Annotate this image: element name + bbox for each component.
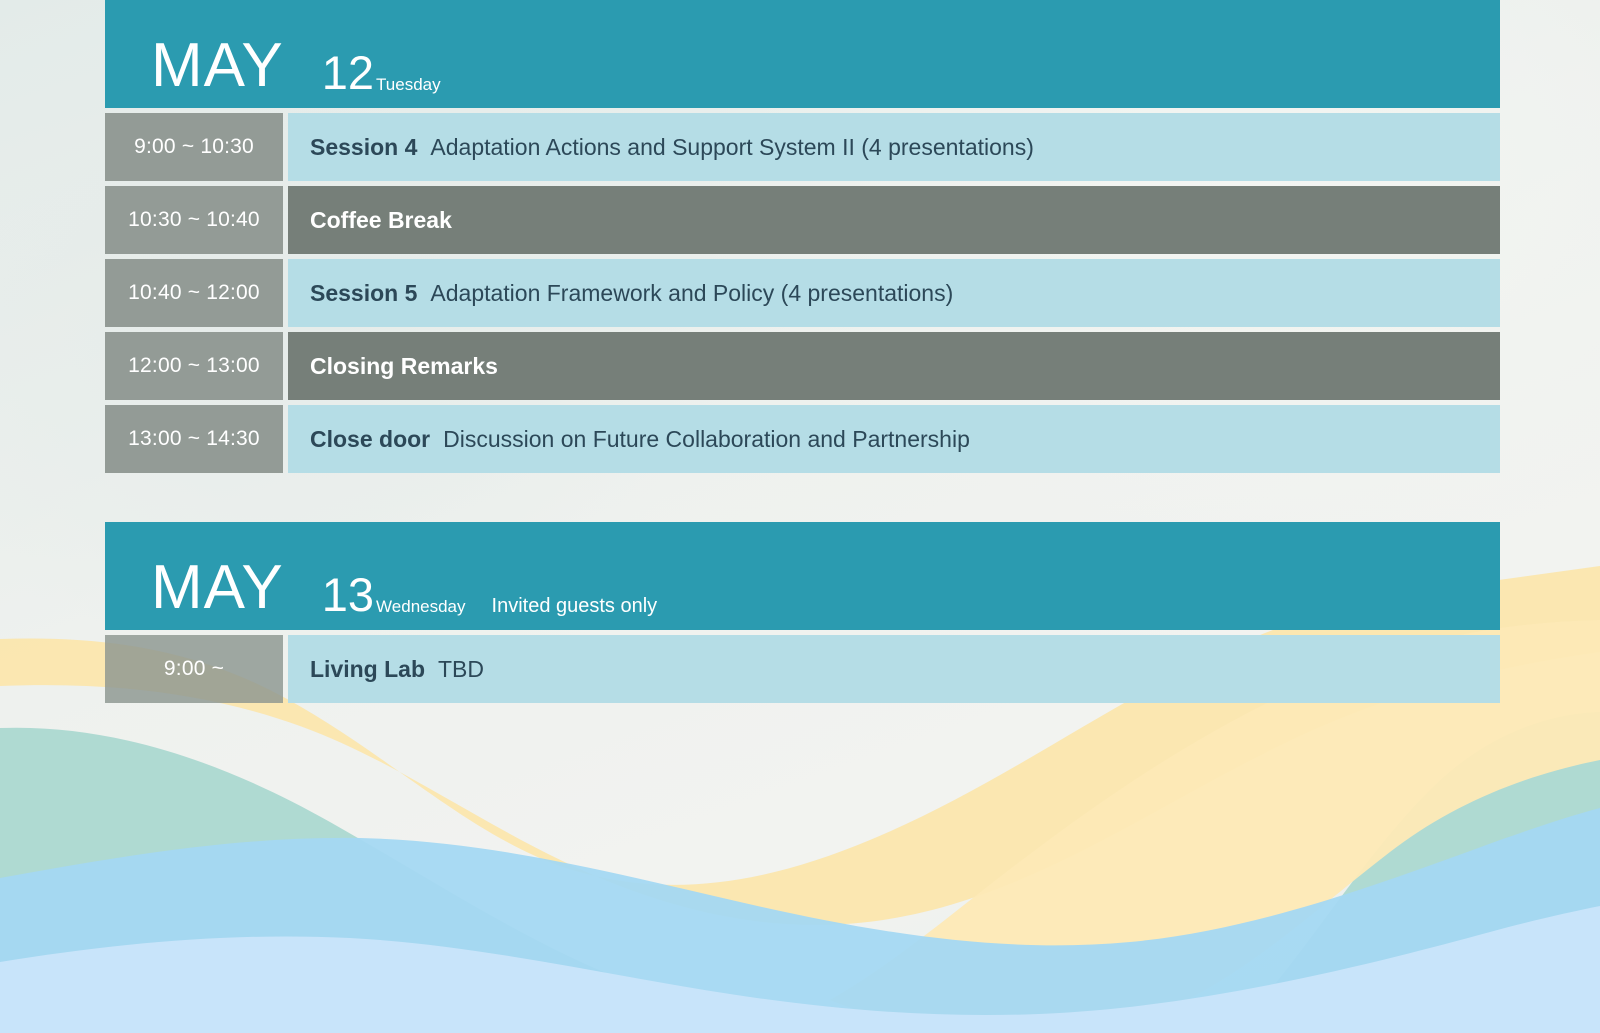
row-time-cell: 13:00 ~ 14:30 <box>105 405 283 473</box>
row-time-cell: 9:00 ~ 10:30 <box>105 113 283 181</box>
row-time-cell: 10:30 ~ 10:40 <box>105 186 283 254</box>
schedule-row[interactable]: 10:30 ~ 10:40 Coffee Break <box>105 186 1500 254</box>
row-time-cell: 12:00 ~ 13:00 <box>105 332 283 400</box>
row-content-cell: Living Lab TBD <box>288 635 1500 703</box>
row-title: Session 5 <box>310 280 417 307</box>
schedule-row[interactable]: 9:00 ~ Living Lab TBD <box>105 635 1500 703</box>
schedule-row[interactable]: 13:00 ~ 14:30 Close door Discussion on F… <box>105 405 1500 473</box>
day-spacer <box>105 478 1500 522</box>
row-time-cell: 9:00 ~ <box>105 635 283 703</box>
row-title: Close door <box>310 426 430 453</box>
row-content-cell: Coffee Break <box>288 186 1500 254</box>
row-title: Closing Remarks <box>310 353 498 380</box>
schedule-container: MAY 12 Tuesday 9:00 ~ 10:30 Session 4 Ad… <box>105 0 1500 708</box>
day-header-may-13: MAY 13 Wednesday Invited guests only <box>105 522 1500 630</box>
row-content-cell: Session 5 Adaptation Framework and Polic… <box>288 259 1500 327</box>
day-number-group: 13 Wednesday Invited guests only <box>322 574 657 616</box>
row-description: TBD <box>438 656 484 683</box>
row-content-cell: Closing Remarks <box>288 332 1500 400</box>
row-description: Adaptation Actions and Support System II… <box>430 134 1033 161</box>
day-block-may-12: MAY 12 Tuesday 9:00 ~ 10:30 Session 4 Ad… <box>105 0 1500 473</box>
day-month-label: MAY <box>151 561 284 616</box>
day-weekday-label: Wednesday <box>376 598 465 616</box>
day-block-may-13: MAY 13 Wednesday Invited guests only 9:0… <box>105 522 1500 703</box>
row-content-cell: Session 4 Adaptation Actions and Support… <box>288 113 1500 181</box>
row-title: Session 4 <box>310 134 417 161</box>
day-number-label: 13 <box>322 574 374 616</box>
day-rows-may-13: 9:00 ~ Living Lab TBD <box>105 635 1500 703</box>
schedule-row[interactable]: 10:40 ~ 12:00 Session 5 Adaptation Frame… <box>105 259 1500 327</box>
schedule-row[interactable]: 12:00 ~ 13:00 Closing Remarks <box>105 332 1500 400</box>
day-number-label: 12 <box>322 52 374 94</box>
row-time-cell: 10:40 ~ 12:00 <box>105 259 283 327</box>
row-title: Coffee Break <box>310 207 452 234</box>
day-note-label: Invited guests only <box>492 596 658 616</box>
row-content-cell: Close door Discussion on Future Collabor… <box>288 405 1500 473</box>
day-number-group: 12 Tuesday <box>322 52 441 94</box>
row-description: Adaptation Framework and Policy (4 prese… <box>430 280 953 307</box>
row-title: Living Lab <box>310 656 425 683</box>
schedule-row[interactable]: 9:00 ~ 10:30 Session 4 Adaptation Action… <box>105 113 1500 181</box>
day-header-may-12: MAY 12 Tuesday <box>105 0 1500 108</box>
day-rows-may-12: 9:00 ~ 10:30 Session 4 Adaptation Action… <box>105 113 1500 473</box>
day-month-label: MAY <box>151 39 284 94</box>
row-description: Discussion on Future Collaboration and P… <box>443 426 970 453</box>
day-weekday-label: Tuesday <box>376 76 441 94</box>
